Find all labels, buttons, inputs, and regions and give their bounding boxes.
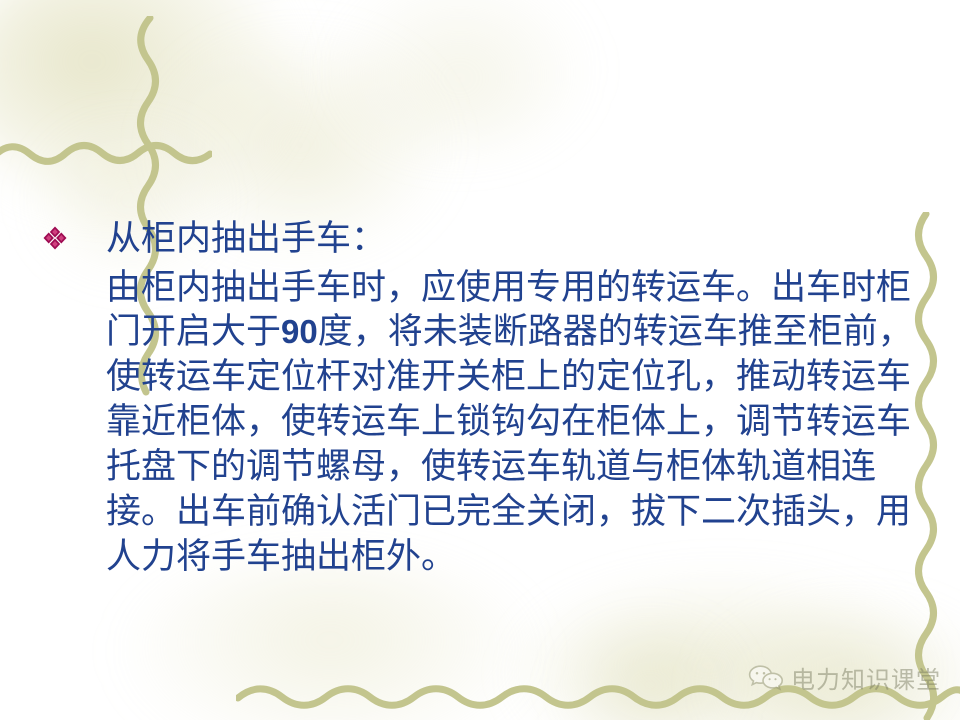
decor-wave-horizontal-bottom (236, 680, 960, 714)
body-paragraph: 由柜内抽出手车时，应使用专用的转运车。出车时柜门开启大于90度，将未装断路器的转… (40, 266, 920, 581)
watermark-blob (120, 560, 540, 720)
wechat-icon (748, 663, 784, 693)
channel-watermark: 电力知识课堂 (748, 660, 941, 695)
bullet-list-item: 从柜内抽出手车： (40, 216, 920, 262)
paragraph-part-2: 度，将未装断路器的转运车推至柜前，使转运车定位杆对准开关柜上的定位孔，推动转运车… (106, 312, 913, 576)
watermark-blob (700, 600, 960, 720)
watermark-blob (560, 620, 740, 720)
bullet-heading-text: 从柜内抽出手车： (106, 219, 386, 258)
paragraph-number-90: 90 (281, 313, 318, 350)
watermark-blob (520, 580, 940, 720)
four-diamond-bullet-icon (42, 225, 68, 251)
page-title: 高压开关柜结构及工作原理 (112, 94, 872, 154)
channel-watermark-label: 电力知识课堂 (791, 660, 941, 695)
slide-canvas: 高压开关柜结构及工作原理 (0, 0, 960, 720)
slide-body: 从柜内抽出手车： 由柜内抽出手车时，应使用专用的转运车。出车时柜门开启大于90度… (40, 216, 920, 580)
